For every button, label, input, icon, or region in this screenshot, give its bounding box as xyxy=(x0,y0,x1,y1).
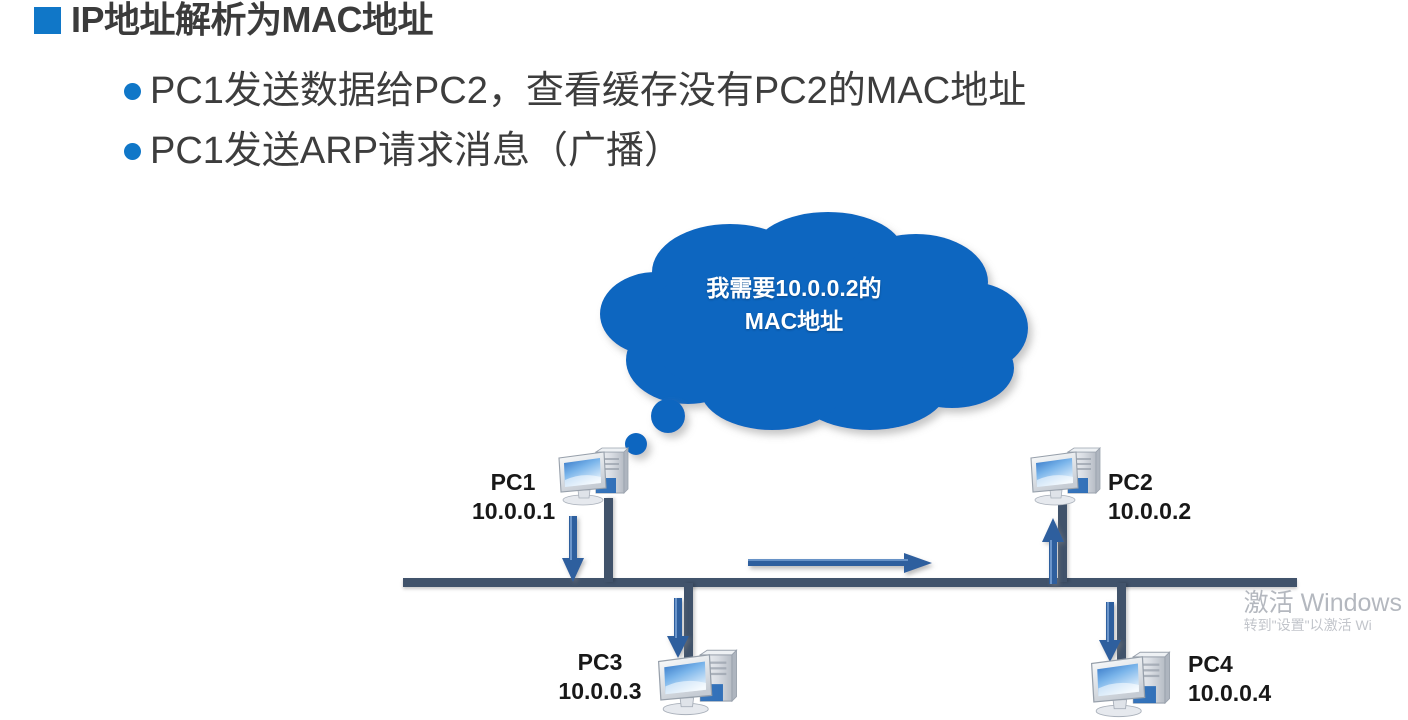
arrow-right-broadcast xyxy=(748,550,934,580)
host-label-pc3: PC3 10.0.0.3 xyxy=(548,648,652,707)
host-ip-pc4: 10.0.0.4 xyxy=(1188,679,1308,708)
computer-icon-pc2 xyxy=(1028,446,1102,508)
arrow-down-pc1 xyxy=(560,516,586,584)
host-ip-pc1: 10.0.0.1 xyxy=(472,497,554,526)
host-label-pc4: PC4 10.0.0.4 xyxy=(1188,650,1308,709)
host-ip-pc2: 10.0.0.2 xyxy=(1108,497,1228,526)
computer-icon-pc1 xyxy=(556,446,630,508)
host-name-pc1: PC1 xyxy=(472,468,554,497)
page-title: IP地址解析为MAC地址 xyxy=(34,2,433,38)
watermark-line-2: 转到"设置"以激活 Wi xyxy=(1244,617,1402,635)
host-ip-pc3: 10.0.0.3 xyxy=(548,677,652,706)
windows-activation-watermark: 激活 Windows 转到"设置"以激活 Wi xyxy=(1244,590,1402,635)
bullet-item-1-text: PC1发送数据给PC2，查看缓存没有PC2的MAC地址 xyxy=(150,72,1026,110)
slide-canvas: IP地址解析为MAC地址 PC1发送数据给PC2，查看缓存没有PC2的MAC地址… xyxy=(0,0,1408,720)
host-name-pc2: PC2 xyxy=(1108,468,1228,497)
bus-stem-pc1 xyxy=(604,498,613,582)
host-name-pc3: PC3 xyxy=(548,648,652,677)
round-bullet-icon xyxy=(124,143,141,160)
watermark-line-1: 激活 Windows xyxy=(1244,590,1402,617)
bullet-item-1: PC1发送数据给PC2，查看缓存没有PC2的MAC地址 xyxy=(124,72,1026,110)
square-bullet-icon xyxy=(34,7,61,34)
host-name-pc4: PC4 xyxy=(1188,650,1308,679)
cloud-text: 我需要10.0.0.2的 MAC地址 xyxy=(634,272,954,337)
computer-icon-pc3 xyxy=(655,648,739,718)
host-label-pc1: PC1 10.0.0.1 xyxy=(472,468,554,527)
thought-cloud-callout: 我需要10.0.0.2的 MAC地址 xyxy=(560,210,1060,480)
host-label-pc2: PC2 10.0.0.2 xyxy=(1108,468,1228,527)
page-title-text: IP地址解析为MAC地址 xyxy=(71,2,433,38)
bullet-item-2-text: PC1发送ARP请求消息（广播） xyxy=(150,132,682,170)
cloud-text-line-2: MAC地址 xyxy=(634,305,954,338)
round-bullet-icon xyxy=(124,83,141,100)
computer-icon-pc4 xyxy=(1088,650,1172,720)
cloud-text-line-1: 我需要10.0.0.2的 xyxy=(634,272,954,305)
bullet-item-2: PC1发送ARP请求消息（广播） xyxy=(124,132,682,170)
arrow-up-pc2 xyxy=(1040,516,1066,584)
